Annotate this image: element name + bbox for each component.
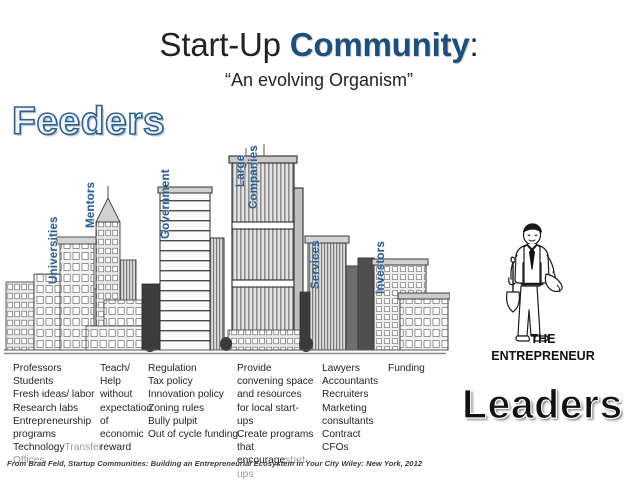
column-universities: Professors Students Fresh ideas/ labor R… — [13, 362, 98, 468]
title-suffix: : — [469, 26, 478, 63]
leaders-wordart: Leaders — [462, 381, 623, 428]
label-investors: Investors — [375, 241, 387, 294]
column-government: Regulation Tax policy Innovation policy … — [148, 362, 240, 441]
entrepreneur-label-line2: ENTREPRENEUR — [483, 348, 603, 365]
title-highlight: Community — [290, 26, 470, 63]
column-services-text: Lawyers Accountants Recruiters Marketing… — [322, 363, 378, 453]
label-mentors: Mentors — [85, 182, 97, 228]
source-citation: From Brad Feld, Startup Communities: Bui… — [7, 459, 422, 468]
label-universities: Universities — [48, 216, 60, 284]
column-large-companies-text: Provide convening space and resources fo… — [237, 363, 313, 466]
column-services: Lawyers Accountants Recruiters Marketing… — [322, 362, 388, 454]
page-subtitle: “An evolving Organism” — [0, 70, 638, 91]
label-government: Government — [160, 169, 172, 239]
column-universities-text: Professors Students Fresh ideas/ labor R… — [13, 363, 95, 453]
slide-canvas: Start-Up Community: “An evolving Organis… — [0, 0, 638, 479]
page-title: Start-Up Community: — [0, 26, 638, 64]
column-investors: Funding — [388, 362, 448, 375]
label-large-companies-line1: Large — [235, 155, 247, 187]
entrepreneur-label-line1: THE — [483, 331, 603, 348]
title-plain: Start-Up — [160, 26, 290, 63]
column-government-text: Regulation Tax policy Innovation policy … — [148, 363, 238, 440]
label-services: Services — [310, 240, 322, 289]
entrepreneur-label: THE ENTREPRENEUR — [483, 331, 603, 365]
column-mentors-text: Teach/ Help without expectation of econo… — [100, 363, 152, 453]
column-investors-text: Funding — [388, 363, 425, 374]
label-large-companies-line2: Companies — [248, 145, 260, 209]
column-mentors: Teach/ Help without expectation of econo… — [100, 362, 148, 454]
